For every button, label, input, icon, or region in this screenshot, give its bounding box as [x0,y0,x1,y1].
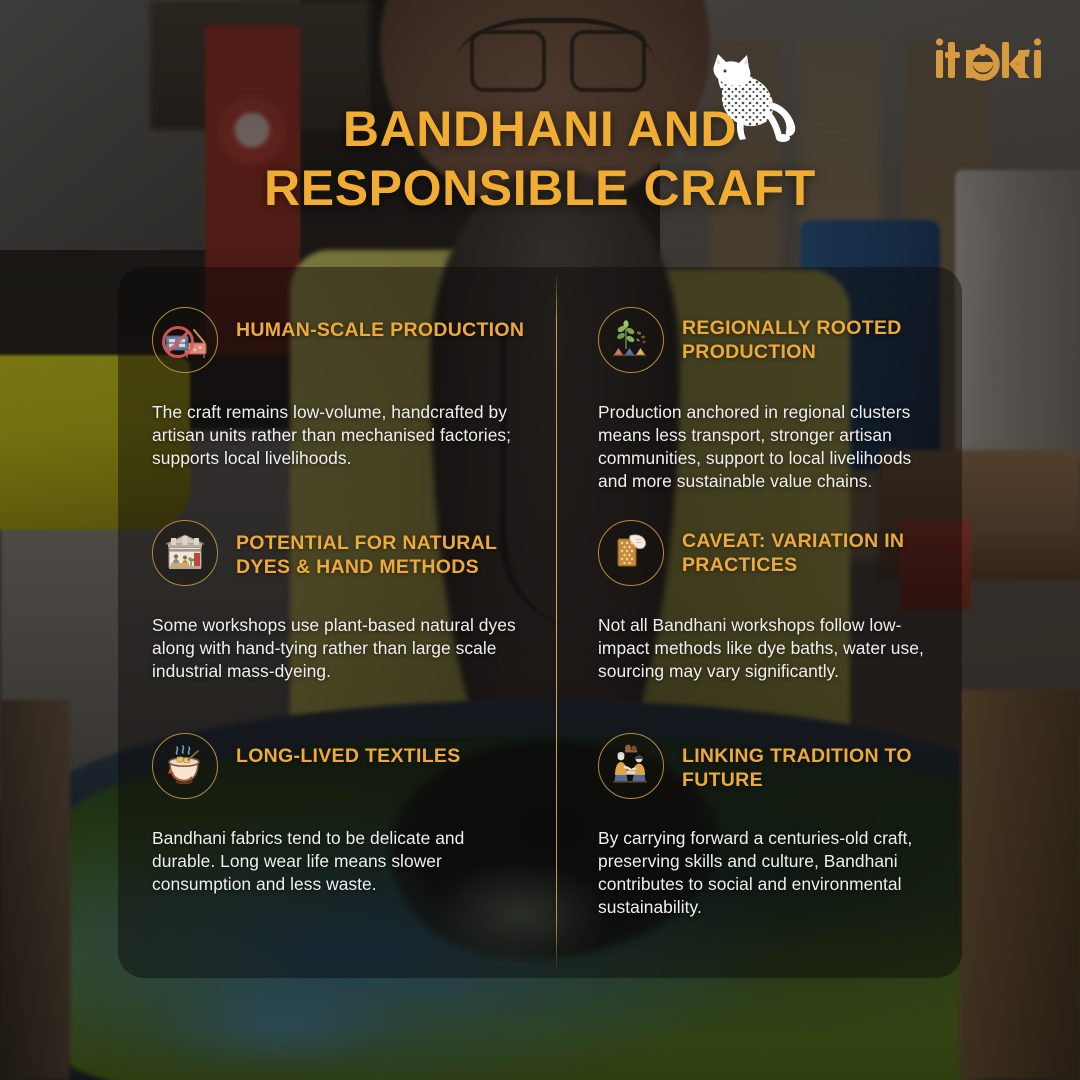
card-title: LONG-LIVED TEXTILES [236,733,461,769]
page-title: BANDHANI AND RESPONSIBLE CRAFT [0,100,1080,218]
leaves-and-dye-piles-icon [598,307,664,373]
two-artisans-working-icon [598,733,664,799]
card-body: Bandhani fabrics tend to be delicate and… [152,827,530,896]
card-header: CAVEAT: VARIATION IN PRACTICES [598,520,942,586]
card-title: HUMAN-SCALE PRODUCTION [236,307,524,343]
card-header: POTENTIAL FOR NATURAL DYES & HAND METHOD… [152,520,530,586]
feature-grid: HUMAN-SCALE PRODUCTION The craft remains… [118,267,962,978]
feature-card-natural-dyes-hand-methods: POTENTIAL FOR NATURAL DYES & HAND METHOD… [118,480,556,693]
card-title: POTENTIAL FOR NATURAL DYES & HAND METHOD… [236,520,530,580]
title-line-1: BANDHANI AND [0,100,1080,159]
card-header: LONG-LIVED TEXTILES [152,733,530,799]
hand-holding-fabric-swatch-icon [598,520,664,586]
feature-card-long-lived-textiles: LONG-LIVED TEXTILES Bandhani fabrics ten… [118,693,556,978]
card-body: Some workshops use plant-based natural d… [152,614,530,683]
feature-card-regionally-rooted-production: REGIONALLY ROOTED PRODUCTION Production … [556,267,962,480]
feature-card-human-scale-production: HUMAN-SCALE PRODUCTION The craft remains… [118,267,556,480]
title-line-2: RESPONSIBLE CRAFT [0,159,1080,218]
cat-silhouette-icon [692,52,800,152]
card-title: LINKING TRADITION TO FUTURE [682,733,942,793]
card-header: LINKING TRADITION TO FUTURE [598,733,942,799]
no-factory-machine-icon [152,307,218,373]
card-body: By carrying forward a centuries-old craf… [598,827,942,920]
card-title: REGIONALLY ROOTED PRODUCTION [682,307,942,365]
card-header: HUMAN-SCALE PRODUCTION [152,307,530,373]
card-header: REGIONALLY ROOTED PRODUCTION [598,307,942,373]
card-title: CAVEAT: VARIATION IN PRACTICES [682,520,942,578]
card-body: Not all Bandhani workshops follow low-im… [598,614,942,683]
feature-card-linking-tradition-to-future: LINKING TRADITION TO FUTURE By carrying … [556,693,962,978]
itokri-logo[interactable] [934,38,1046,82]
feature-card-caveat-variation-in-practices: CAVEAT: VARIATION IN PRACTICES Not all B… [556,480,962,693]
artisan-workshop-shop-icon [152,520,218,586]
steaming-dye-pot-icon [152,733,218,799]
card-body: The craft remains low-volume, handcrafte… [152,401,530,470]
